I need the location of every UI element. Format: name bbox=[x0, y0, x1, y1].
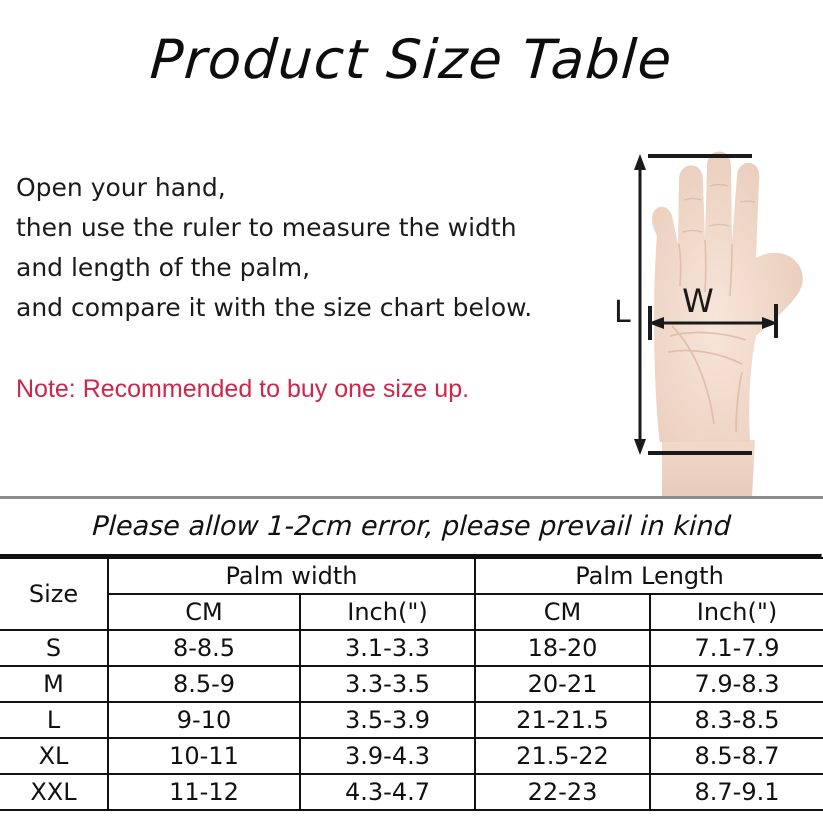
hand-shape bbox=[652, 152, 803, 442]
size-chart-page: Product Size Table Open your hand, then … bbox=[0, 0, 823, 827]
instruction-line-4: and compare it with the size chart below… bbox=[16, 288, 596, 328]
cell-length-cm: 21.5-22 bbox=[475, 738, 650, 774]
header-length-cm: CM bbox=[475, 594, 650, 630]
instruction-line-3: and length of the palm, bbox=[16, 248, 596, 288]
header-palm-width: Palm width bbox=[108, 558, 475, 594]
cell-length-inch: 7.1-7.9 bbox=[650, 630, 823, 666]
header-palm-length: Palm Length bbox=[475, 558, 823, 594]
cell-width-cm: 8.5-9 bbox=[108, 666, 300, 702]
table-row: S8-8.53.1-3.318-207.1-7.9 bbox=[0, 630, 823, 666]
table-group-header-row: Size Palm width Palm Length bbox=[0, 558, 823, 594]
cell-length-cm: 21-21.5 bbox=[475, 702, 650, 738]
header-width-inch: Inch(") bbox=[300, 594, 475, 630]
length-arrow-head-top bbox=[634, 154, 646, 170]
instruction-line-1: Open your hand, bbox=[16, 168, 596, 208]
table-head: Size Palm width Palm Length CM Inch(") C… bbox=[0, 558, 823, 630]
table-row: M8.5-93.3-3.520-217.9-8.3 bbox=[0, 666, 823, 702]
cell-width-cm: 9-10 bbox=[108, 702, 300, 738]
header-size: Size bbox=[0, 558, 108, 630]
cell-length-inch: 8.5-8.7 bbox=[650, 738, 823, 774]
cell-width-inch: 3.5-3.9 bbox=[300, 702, 475, 738]
cell-width-cm: 8-8.5 bbox=[108, 630, 300, 666]
cell-size: XL bbox=[0, 738, 108, 774]
wrist-shape bbox=[662, 440, 755, 497]
cell-width-inch: 3.1-3.3 bbox=[300, 630, 475, 666]
cell-size: M bbox=[0, 666, 108, 702]
cell-length-cm: 20-21 bbox=[475, 666, 650, 702]
cell-width-cm: 10-11 bbox=[108, 738, 300, 774]
hand-measurement-diagram: L W bbox=[600, 140, 823, 497]
table-row: XXL11-124.3-4.722-238.7-9.1 bbox=[0, 774, 823, 810]
cell-size: XXL bbox=[0, 774, 108, 810]
table-unit-header-row: CM Inch(") CM Inch(") bbox=[0, 594, 823, 630]
size-table: Size Palm width Palm Length CM Inch(") C… bbox=[0, 557, 823, 811]
cell-width-inch: 4.3-4.7 bbox=[300, 774, 475, 810]
size-table-section: Please allow 1-2cm error, please prevail… bbox=[0, 499, 823, 811]
cell-width-inch: 3.9-4.3 bbox=[300, 738, 475, 774]
cell-length-cm: 22-23 bbox=[475, 774, 650, 810]
length-arrow-head-bottom bbox=[634, 439, 646, 455]
size-up-note: Note: Recommended to buy one size up. bbox=[16, 372, 469, 406]
instruction-line-2: then use the ruler to measure the width bbox=[16, 208, 596, 248]
width-label: W bbox=[682, 282, 714, 320]
cell-width-cm: 11-12 bbox=[108, 774, 300, 810]
cell-length-cm: 18-20 bbox=[475, 630, 650, 666]
cell-size: S bbox=[0, 630, 108, 666]
cell-length-inch: 8.7-9.1 bbox=[650, 774, 823, 810]
cell-length-inch: 8.3-8.5 bbox=[650, 702, 823, 738]
table-body: S8-8.53.1-3.318-207.1-7.9M8.5-93.3-3.520… bbox=[0, 630, 823, 810]
header-length-inch: Inch(") bbox=[650, 594, 823, 630]
table-row: XL10-113.9-4.321.5-228.5-8.7 bbox=[0, 738, 823, 774]
page-title: Product Size Table bbox=[0, 28, 823, 91]
cell-size: L bbox=[0, 702, 108, 738]
length-label: L bbox=[614, 295, 631, 330]
header-width-cm: CM bbox=[108, 594, 300, 630]
tolerance-note: Please allow 1-2cm error, please prevail… bbox=[0, 499, 823, 557]
measurement-instructions: Open your hand, then use the ruler to me… bbox=[16, 168, 596, 328]
table-row: L9-103.5-3.921-21.58.3-8.5 bbox=[0, 702, 823, 738]
cell-length-inch: 7.9-8.3 bbox=[650, 666, 823, 702]
cell-width-inch: 3.3-3.5 bbox=[300, 666, 475, 702]
